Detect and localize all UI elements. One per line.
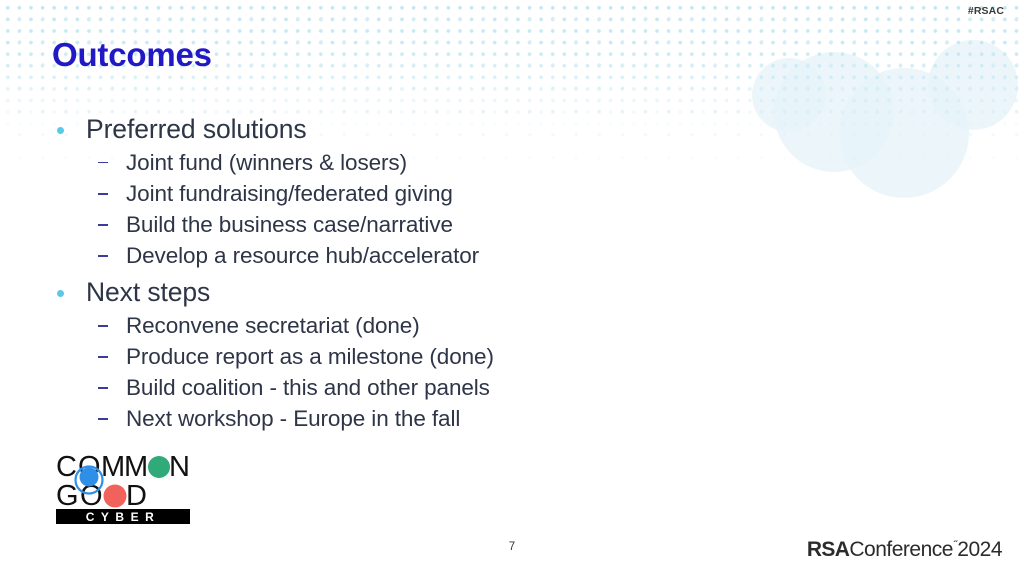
bullet-level2-label: Joint fund (winners & losers) (126, 150, 407, 175)
dash-bullet-icon (98, 325, 108, 327)
bullet-level1: Preferred solutions (50, 113, 820, 146)
bullet-dot-icon (57, 127, 64, 134)
bullet-level2: Joint fundraising/federated giving (50, 178, 820, 209)
logo-letter-c: C (56, 451, 77, 483)
rsa-conference-word: Conference (849, 538, 953, 562)
logo-letter-d: D (126, 480, 147, 512)
slide-body: Preferred solutions Joint fund (winners … (50, 113, 820, 434)
dash-bullet-icon (98, 255, 108, 257)
bullet-level2: Reconvene secretariat (done) (50, 310, 820, 341)
logo-blue-circle (80, 468, 99, 487)
rsac-hashtag: #RSAC (968, 5, 1004, 17)
page-title: Outcomes (52, 38, 212, 71)
bullet-dot-icon (57, 290, 64, 297)
bullet-level2-label: Next workshop - Europe in the fall (126, 406, 460, 431)
sublist: Reconvene secretariat (done) Produce rep… (50, 310, 820, 434)
logo-letter-g: G (56, 480, 79, 512)
common-good-cyber-logo: C O M M N G O D CYBER (56, 450, 190, 524)
bullet-level2-label: Build coalition - this and other panels (126, 375, 490, 400)
dash-bullet-icon (98, 193, 108, 195)
bullet-level2: Produce report as a milestone (done) (50, 341, 820, 372)
bullet-level2-label: Produce report as a milestone (done) (126, 344, 494, 369)
logo-green-circle (148, 456, 170, 478)
dash-bullet-icon (98, 356, 108, 358)
bullet-level2: Next workshop - Europe in the fall (50, 403, 820, 434)
bullet-level2-label: Joint fundraising/federated giving (126, 181, 453, 206)
bullet-level2: Develop a resource hub/accelerator (50, 240, 820, 271)
dash-bullet-icon (98, 418, 108, 420)
bullet-level1: Next steps (50, 276, 820, 309)
logo-red-circle (104, 485, 127, 508)
dash-bullet-icon (98, 387, 108, 389)
bullet-level2-label: Develop a resource hub/accelerator (126, 243, 479, 268)
bullet-level2: Build coalition - this and other panels (50, 372, 820, 403)
dash-bullet-icon (98, 224, 108, 226)
rsa-mark: RSA (807, 538, 850, 562)
bullet-level1-label: Preferred solutions (86, 114, 307, 144)
background-circle (839, 68, 969, 198)
rsa-conference-logo: RSAConference˝2024 (807, 538, 1002, 562)
rsa-year: 2024 (957, 538, 1002, 562)
logo-letter-m2: M (124, 451, 148, 483)
slide: #RSAC Outcomes Preferred solutions Joint… (0, 0, 1024, 576)
rsa-tick-mark: ˝ (954, 540, 957, 551)
logo-letter-n: N (169, 451, 190, 483)
bullet-level2: Joint fund (winners & losers) (50, 147, 820, 178)
dash-bullet-icon (98, 162, 108, 164)
logo-letter-m1: M (101, 451, 125, 483)
sublist: Joint fund (winners & losers) Joint fund… (50, 147, 820, 271)
background-circle (928, 40, 1018, 130)
logo-cyber-text: CYBER (86, 510, 161, 524)
bullet-level1-label: Next steps (86, 277, 210, 307)
bullet-level2: Build the business case/narrative (50, 209, 820, 240)
bullet-level2-label: Build the business case/narrative (126, 212, 453, 237)
bullet-level2-label: Reconvene secretariat (done) (126, 313, 420, 338)
